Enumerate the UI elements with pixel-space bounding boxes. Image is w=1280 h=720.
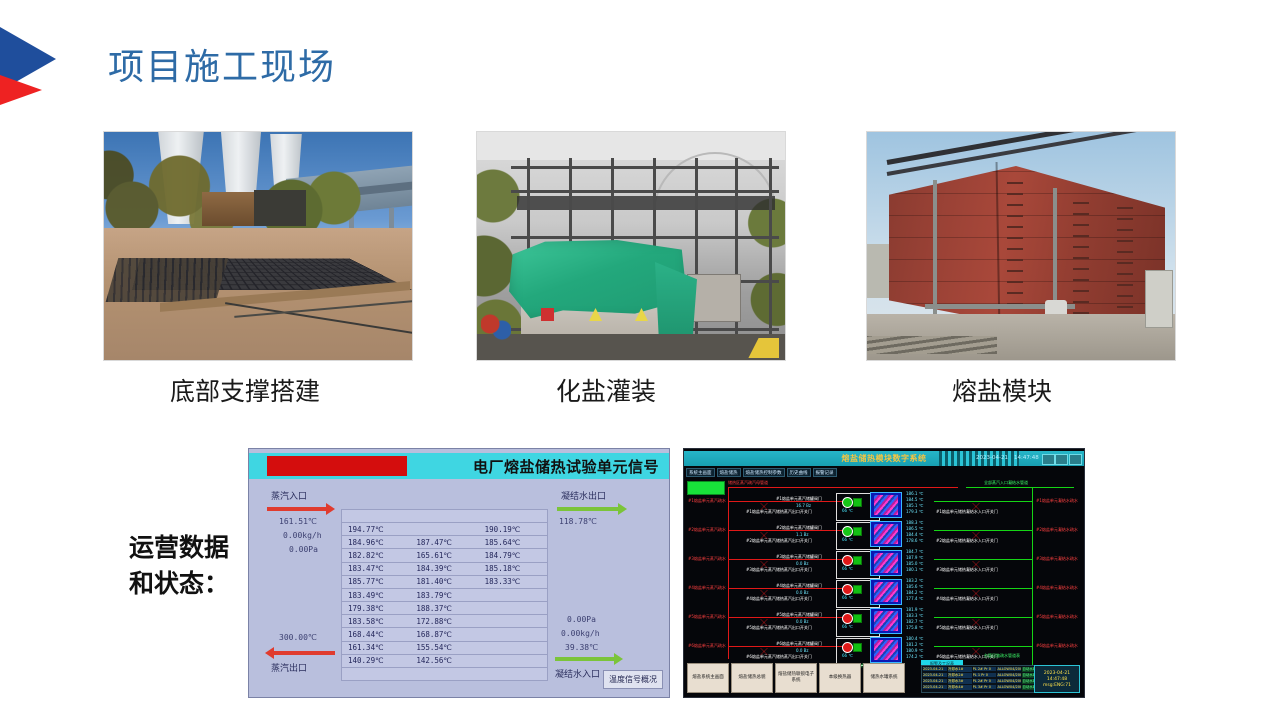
photo3-ladder — [1117, 204, 1133, 308]
scada-module-1-condensate-branch — [934, 501, 1032, 502]
scada-alarm-time: 2023-04-21 — [923, 667, 947, 671]
hmi-table-cell: 183.33℃ — [479, 577, 547, 586]
scada-module-5-heat-exchanger — [870, 608, 902, 634]
scada-module-4-reading-1: 185.6 ℃ — [906, 584, 923, 589]
scada-run-status-indicator — [687, 481, 725, 495]
prohibition-sign-icon — [541, 308, 554, 321]
photo1-rebar-stack — [106, 258, 229, 302]
scada-button-0[interactable]: 熔盐系统主画面 — [687, 663, 729, 693]
scaffold-rail — [511, 236, 779, 239]
ops-data-label: 运营数据 和状态： — [104, 530, 254, 602]
scada-module-3-left-tag: #3熔盐单元蒸汽疏水 — [688, 556, 726, 562]
scada-alarm-code: ALLOW04/200 — [997, 685, 1021, 689]
scada-module-1-outlet-valve-label: #1熔盐单元蒸汽储热蒸汽出口开关门 — [746, 509, 812, 515]
hmi-table-cell: 168.44℃ — [342, 630, 410, 639]
scada-module-6-outlet-valve-label: #6熔盐单元蒸汽储热蒸汽出口开关门 — [746, 654, 812, 660]
scada-alarm-tag: 冷却水2# — [948, 673, 972, 678]
hmi-table-cell: 185.77℃ — [342, 577, 410, 586]
hmi-redacted-company-name — [267, 456, 407, 476]
photo-caption-salt-filling: 化盐灌装 — [556, 372, 656, 408]
scada-module-5-reading-3: 175.8 ℃ — [906, 625, 923, 630]
scada-menu-item-3[interactable]: 历史曲线 — [787, 468, 811, 477]
photo2-workers — [481, 312, 511, 342]
scada-module-6-water-valve-icon[interactable] — [972, 648, 980, 655]
photo-salt-filling — [476, 131, 786, 361]
minimize-button[interactable] — [1042, 454, 1055, 465]
scada-module-1-water-valve-icon[interactable] — [972, 503, 980, 510]
scada-module-5-water-valve-icon[interactable] — [972, 619, 980, 626]
scaffold-rail — [511, 190, 779, 193]
scada-module-6-reading-0: 180.4 ℃ — [906, 636, 923, 641]
hmi-table-row: 182.82℃165.61℃184.79℃ — [342, 549, 547, 562]
scada-menu-item-1[interactable]: 熔盐储热 — [717, 468, 741, 477]
hmi-table-cell: 181.40℃ — [410, 577, 478, 586]
ops-data-label-line2: 和状态： — [104, 566, 254, 602]
hmi-table-cell: 185.18℃ — [479, 564, 547, 573]
scaffold-rail — [511, 166, 779, 169]
hmi-table-row: 183.58℃172.88℃ — [342, 615, 547, 628]
scada-module-3-flow-reading: 0.0 Bz — [796, 561, 808, 566]
photo-bottom-support — [103, 131, 413, 361]
scada-module-2-left-tag: #2熔盐单元蒸汽疏水 — [688, 527, 726, 533]
scada-module-3-outlet-valve-icon[interactable] — [760, 561, 768, 568]
scada-module-6-reading-1: 181.2 ℃ — [906, 642, 923, 647]
scada-module-2-outlet-valve-icon[interactable] — [760, 532, 768, 539]
scada-module-5-outlet-valve-icon[interactable] — [760, 619, 768, 626]
scada-module-5-steam-valve-label: #5熔盐单元蒸汽储罐阀门 — [776, 612, 822, 618]
scada-alarm-time: 2023-04-21 — [923, 685, 947, 689]
hmi-table-cell: 172.88℃ — [410, 617, 478, 626]
hmi-table-row: 140.29℃142.56℃ — [342, 655, 547, 668]
hmi-condensate-outlet-temp: 118.78℃ — [559, 517, 597, 526]
scada-module-2-water-valve-icon[interactable] — [972, 532, 980, 539]
scada-module-5-outlet-valve-label: #5熔盐单元蒸汽储热蒸汽出口开关门 — [746, 625, 812, 631]
photo1-container — [254, 190, 306, 226]
photo3-ladder — [1073, 194, 1089, 314]
scada-module-3-heat-exchanger — [870, 550, 902, 576]
scada-module-3-reading-0: 184.7 ℃ — [906, 549, 923, 554]
scada-condensate-header-pipe — [966, 487, 1074, 488]
hmi-table-cell: 188.37℃ — [410, 604, 478, 613]
scaffold-post — [695, 158, 698, 356]
scada-module-2-right-tag: #2熔盐单元凝结水疏水 — [1036, 527, 1078, 533]
hmi-table-cell: 183.58℃ — [342, 617, 410, 626]
scada-menu-bar[interactable]: 系统主画面 熔盐储热 熔盐储热控制参数 历史曲线 报警记录 — [686, 468, 837, 477]
scada-module-2-steam-valve-label: #2熔盐单元蒸汽储罐阀门 — [776, 525, 822, 531]
scada-module-5-reading-2: 182.7 ℃ — [906, 619, 923, 624]
photo2-ground — [477, 334, 785, 360]
hmi-table-cell: 155.54℃ — [410, 643, 478, 652]
scada-left-header-tag: 储热区蒸汽疏汽母管道 — [728, 480, 768, 486]
scada-module-4-heat-exchanger — [870, 579, 902, 605]
hmi-table-row: 183.47℃184.39℃185.18℃ — [342, 563, 547, 576]
hmi-table-cell: 142.56℃ — [410, 656, 478, 665]
scada-button-2[interactable]: 熔盐储热联锁电子系统 — [775, 663, 817, 693]
scada-module-3-reading-1: 187.9 ℃ — [906, 555, 923, 560]
scada-module-4-reading-0: 183.2 ℃ — [906, 578, 923, 583]
scada-module-2-reading-1: 186.5 ℃ — [906, 526, 923, 531]
hmi-steam-inlet-temp: 161.51℃ — [279, 517, 317, 526]
scada-clock-date: 2023-04-21 — [1044, 671, 1070, 676]
scada-alarm-device: PL 2# Pr 0 — [973, 667, 997, 671]
brand-logo — [0, 27, 62, 115]
hmi-steam-outlet-arrow-icon — [273, 651, 335, 655]
hmi-table-cell: 184.79℃ — [479, 551, 547, 560]
hmi-condensate-outlet-label: 凝结水出口 — [561, 489, 606, 502]
hmi-table-row — [342, 668, 547, 680]
hmi-table-cell: 140.29℃ — [342, 656, 410, 665]
photo-caption-salt-module: 熔盐模块 — [952, 372, 1052, 408]
scada-menu-item-4[interactable]: 报警记录 — [813, 468, 837, 477]
scada-module-4-hx-coil — [874, 582, 898, 602]
scada-module-2-outlet-valve-label: #2熔盐单元蒸汽储热蒸汽出口开关门 — [746, 538, 812, 544]
scada-module-3-steam-valve-label: #3熔盐单元蒸汽储罐阀门 — [776, 554, 822, 560]
scaffold-post — [735, 158, 738, 356]
photo1-shed — [202, 192, 260, 226]
photo3-crate — [1145, 270, 1173, 328]
scada-module-4-steam-valve-label: #4熔盐单元蒸汽储罐阀门 — [776, 583, 822, 589]
hmi-steam-inlet-flow: 0.00kg/h — [283, 531, 322, 540]
scada-module-4-flow-reading: 0.0 Bz — [796, 590, 808, 595]
scada-module-4-reading-3: 177.4 ℃ — [906, 596, 923, 601]
hmi-table-row: 194.77℃190.19℃ — [342, 523, 547, 536]
scada-module-1-hx-coil — [874, 495, 898, 515]
hmi-steam-inlet-label: 蒸汽入口 — [271, 489, 307, 502]
scada-module-6-outlet-valve-icon[interactable] — [760, 648, 768, 655]
hmi-table-cell: 184.39℃ — [410, 564, 478, 573]
scada-button-1[interactable]: 熔盐储热总貌 — [731, 663, 773, 693]
scada-module-3-right-tag: #3熔盐单元凝结水疏水 — [1036, 556, 1078, 562]
scada-module-6-left-tag: #6熔盐单元蒸汽疏水 — [688, 643, 726, 649]
hmi-table-cell: 194.77℃ — [342, 525, 410, 534]
scada-module-1-flow-reading: 16.7 Bz — [796, 503, 811, 508]
scada-module-4-outlet-valve-label: #4熔盐单元蒸汽储热蒸汽出口开关门 — [746, 596, 812, 602]
scada-clock-msg: msg:ENG:71 — [1043, 683, 1071, 688]
scada-module-4-reading-2: 184.2 ℃ — [906, 590, 923, 595]
scada-module-2-reading-2: 184.4 ℃ — [906, 532, 923, 537]
scada-module-3-water-valve-label: #3熔盐单元储热凝结水入口开关门 — [936, 567, 998, 573]
scada-module-3-outlet-valve-label: #3熔盐单元蒸汽储热蒸汽出口开关门 — [746, 567, 812, 573]
scada-button-3[interactable]: 本级换热器 — [819, 663, 861, 693]
scada-module-1-heat-exchanger — [870, 492, 902, 518]
hmi-table-cell: 165.61℃ — [410, 551, 478, 560]
scada-module-2-heat-exchanger — [870, 521, 902, 547]
hmi-table-row: 179.38℃188.37℃ — [342, 602, 547, 615]
scaffold-post — [769, 158, 772, 356]
scada-module-1-left-tag: #1熔盐单元蒸汽疏水 — [688, 498, 726, 504]
hmi-title: 电厂熔盐储热试验单元信号 — [473, 456, 669, 477]
scada-module-6-steam-valve-label: #6熔盐单元蒸汽储罐阀门 — [776, 641, 822, 647]
scada-alarm-time: 2023-04-21 — [923, 679, 947, 683]
ops-data-label-line1: 运营数据 — [104, 530, 254, 566]
scada-module-2-reading-0: 188.3 ℃ — [906, 520, 923, 525]
scada-module-1-reading-0: 186.1 ℃ — [906, 491, 923, 496]
scada-module-3-hx-coil — [874, 553, 898, 573]
scada-alarm-device: PL 3# Pr 0 — [973, 685, 997, 689]
scada-condensate-riser — [1032, 487, 1033, 667]
scada-steam-riser — [728, 487, 729, 659]
scada-alarm-code: ALLOW04/200 — [997, 673, 1021, 677]
hmi-condensate-inlet-arrow-icon — [555, 657, 615, 661]
scada-module-4-water-valve-label: #4熔盐单元储热凝结水入口开关门 — [936, 596, 998, 602]
scada-clock-panel: 2023-04-21 14:47:48 msg:ENG:71 — [1034, 665, 1080, 693]
page-title: 项目施工现场 — [108, 38, 336, 90]
scada-menu-item-2[interactable]: 熔盐储热控制参数 — [743, 468, 785, 477]
scada-module-5-reading-0: 181.9 ℃ — [906, 607, 923, 612]
scada-alarm-tag: 冷却水1# — [948, 667, 972, 672]
scada-screenshot-panel: 熔盐储热模块数字系统 2023-04-21 14:47:48 系统主画面 熔盐储… — [683, 448, 1085, 698]
hmi-steam-inlet-pressure: 0.00Pa — [289, 545, 318, 554]
scada-module-6-right-tag: #6熔盐单元凝结水疏水 — [1036, 643, 1078, 649]
scada-module-3-reading-3: 180.1 ℃ — [906, 567, 923, 572]
hmi-condensate-outlet-arrow-icon — [557, 507, 619, 511]
scada-module-5-reading-1: 183.3 ℃ — [906, 613, 923, 618]
scada-module-1-reading-2: 185.1 ℃ — [906, 503, 923, 508]
hmi-table-cell: 190.19℃ — [479, 525, 547, 534]
scada-module-2-hx-coil — [874, 524, 898, 544]
hmi-table-cell: 185.64℃ — [479, 538, 547, 547]
scada-alarm-code: ALLOW04/200 — [997, 679, 1021, 683]
hmi-table-cell: 183.49℃ — [342, 591, 410, 600]
hmi-table-cell: 168.87℃ — [410, 630, 478, 639]
scada-module-4-right-tag: #4熔盐单元凝结水疏水 — [1036, 585, 1078, 591]
scada-module-2-condensate-branch — [934, 530, 1032, 531]
hmi-table-row: 185.77℃181.40℃183.33℃ — [342, 576, 547, 589]
scada-button-row[interactable]: 熔盐系统主画面熔盐储热总貌熔盐储热联锁电子系统本级换热器储热水罐系统 — [687, 663, 905, 693]
hmi-table-cell: 182.82℃ — [342, 551, 410, 560]
scada-button-4[interactable]: 储热水罐系统 — [863, 663, 905, 693]
scada-module-3-condensate-branch — [934, 559, 1032, 560]
scada-module-1-outlet-valve-icon[interactable] — [760, 503, 768, 510]
photo-caption-bottom-support: 底部支撑搭建 — [170, 372, 320, 408]
hmi-steam-inlet-arrow-icon — [267, 507, 327, 511]
hmi-temperature-overview-button[interactable]: 温度信号概况 — [603, 670, 663, 689]
scada-module-3-water-valve-icon[interactable] — [972, 561, 980, 568]
scada-module-2-water-valve-label: #2熔盐单元储热凝结水入口开关门 — [936, 538, 998, 544]
scada-module-5-flow-reading: 0.0 Bz — [796, 619, 808, 624]
scada-module-1-right-tag: #1熔盐单元凝结水疏水 — [1036, 498, 1078, 504]
scada-module-1-reading-3: 179.3 ℃ — [906, 509, 923, 514]
hmi-temperature-table: 194.77℃190.19℃184.96℃187.47℃185.64℃182.8… — [341, 509, 548, 681]
logo-red-triangle-icon — [0, 75, 42, 105]
scada-module-6-flow-reading: 0.0 Bz — [796, 648, 808, 653]
scada-alarm-time: 2023-04-21 — [923, 673, 947, 677]
hmi-table-row: 184.96℃187.47℃185.64℃ — [342, 536, 547, 549]
hmi-condensate-inlet-pressure: 0.00Pa — [567, 615, 596, 624]
scada-module-4-outlet-valve-icon[interactable] — [760, 590, 768, 597]
hmi-table-row: 183.49℃183.79℃ — [342, 589, 547, 602]
scada-module-1-reading-1: 184.5 ℃ — [906, 497, 923, 502]
hmi-screenshot-panel: 电厂熔盐储热试验单元信号 蒸汽入口 161.51℃ 0.00kg/h 0.00P… — [248, 448, 670, 698]
scada-module-6-heat-exchanger — [870, 637, 902, 663]
scada-time: 14:47:48 — [1014, 455, 1039, 461]
hmi-table-row — [342, 510, 547, 523]
photo3-ladder — [1007, 176, 1023, 316]
scada-title-bar: 熔盐储热模块数字系统 2023-04-21 14:47:48 — [684, 451, 1084, 466]
hmi-table-row: 168.44℃168.87℃ — [342, 628, 547, 641]
hmi-table-cell: 183.47℃ — [342, 564, 410, 573]
scada-alarm-code: ALLOW04/200 — [997, 667, 1021, 671]
hmi-steam-outlet-temp: 300.00℃ — [279, 633, 317, 642]
hmi-table-cell: 184.96℃ — [342, 538, 410, 547]
scada-module-5-right-tag: #5熔盐单元凝结水疏水 — [1036, 614, 1078, 620]
scada-module-2-flow-reading: 1.1 Bz — [796, 532, 808, 537]
scada-module-4-condensate-branch — [934, 588, 1032, 589]
scada-module-4-water-valve-icon[interactable] — [972, 590, 980, 597]
hmi-condensate-inlet-label: 凝结水入口 — [555, 667, 600, 680]
hmi-table-cell: 161.34℃ — [342, 643, 410, 652]
scada-module-6-hx-coil — [874, 640, 898, 660]
scada-steam-header-pipe — [728, 487, 958, 488]
scada-right-header-tag: 全部蒸汽入口凝结水管道 — [984, 480, 1028, 486]
scada-module-6-reading-3: 174.2 ℃ — [906, 654, 923, 659]
hmi-steam-outlet-label: 蒸汽出口 — [271, 661, 307, 674]
scada-module-3-reading-2: 185.0 ℃ — [906, 561, 923, 566]
scada-module-6-reading-2: 180.9 ℃ — [906, 648, 923, 653]
scada-bottom-note-right: 台管回路疏水管道表 — [984, 653, 1020, 659]
hmi-table-cell: 187.47℃ — [410, 538, 478, 547]
photo3-stacked-pipes — [867, 336, 997, 354]
photo-salt-module — [866, 131, 1176, 361]
scada-module-1-water-valve-label: #1熔盐单元储热凝结水入口开关门 — [936, 509, 998, 515]
photo3-vertical-pipe — [1053, 188, 1057, 306]
hmi-table-cell: 179.38℃ — [342, 604, 410, 613]
hmi-table-cell: 183.79℃ — [410, 591, 478, 600]
maximize-button[interactable] — [1055, 454, 1068, 465]
close-button[interactable] — [1069, 454, 1082, 465]
scada-module-5-water-valve-label: #5熔盐单元储热凝结水入口开关门 — [936, 625, 998, 631]
scada-module-1-steam-valve-label: #1熔盐单元蒸汽储罐阀门 — [776, 496, 822, 502]
scada-module-5-condensate-branch — [934, 617, 1032, 618]
scada-module-5-hx-coil — [874, 611, 898, 631]
scada-module-2-reading-3: 178.6 ℃ — [906, 538, 923, 543]
scada-menu-item-0[interactable]: 系统主画面 — [686, 468, 715, 477]
scada-module-4-left-tag: #4熔盐单元蒸汽疏水 — [688, 585, 726, 591]
scada-alarm-device: PL 1 Pr 0 — [973, 673, 997, 677]
scada-module-6-condensate-branch — [934, 646, 1032, 647]
scada-alarm-device: PL 2# Pr 0 — [973, 679, 997, 683]
hmi-table-row: 161.34℃155.54℃ — [342, 642, 547, 655]
scada-date: 2023-04-21 — [976, 455, 1008, 461]
hmi-condensate-inlet-flow: 0.00kg/h — [561, 629, 600, 638]
hmi-condensate-inlet-temp: 39.38℃ — [565, 643, 598, 652]
scada-clock-time: 14:47:48 — [1047, 677, 1067, 682]
scada-module-5-left-tag: #5熔盐单元蒸汽疏水 — [688, 614, 726, 620]
scada-alarm-tag: 冷却水4# — [948, 685, 972, 690]
scada-alarm-tag: 冷却水3# — [948, 679, 972, 684]
